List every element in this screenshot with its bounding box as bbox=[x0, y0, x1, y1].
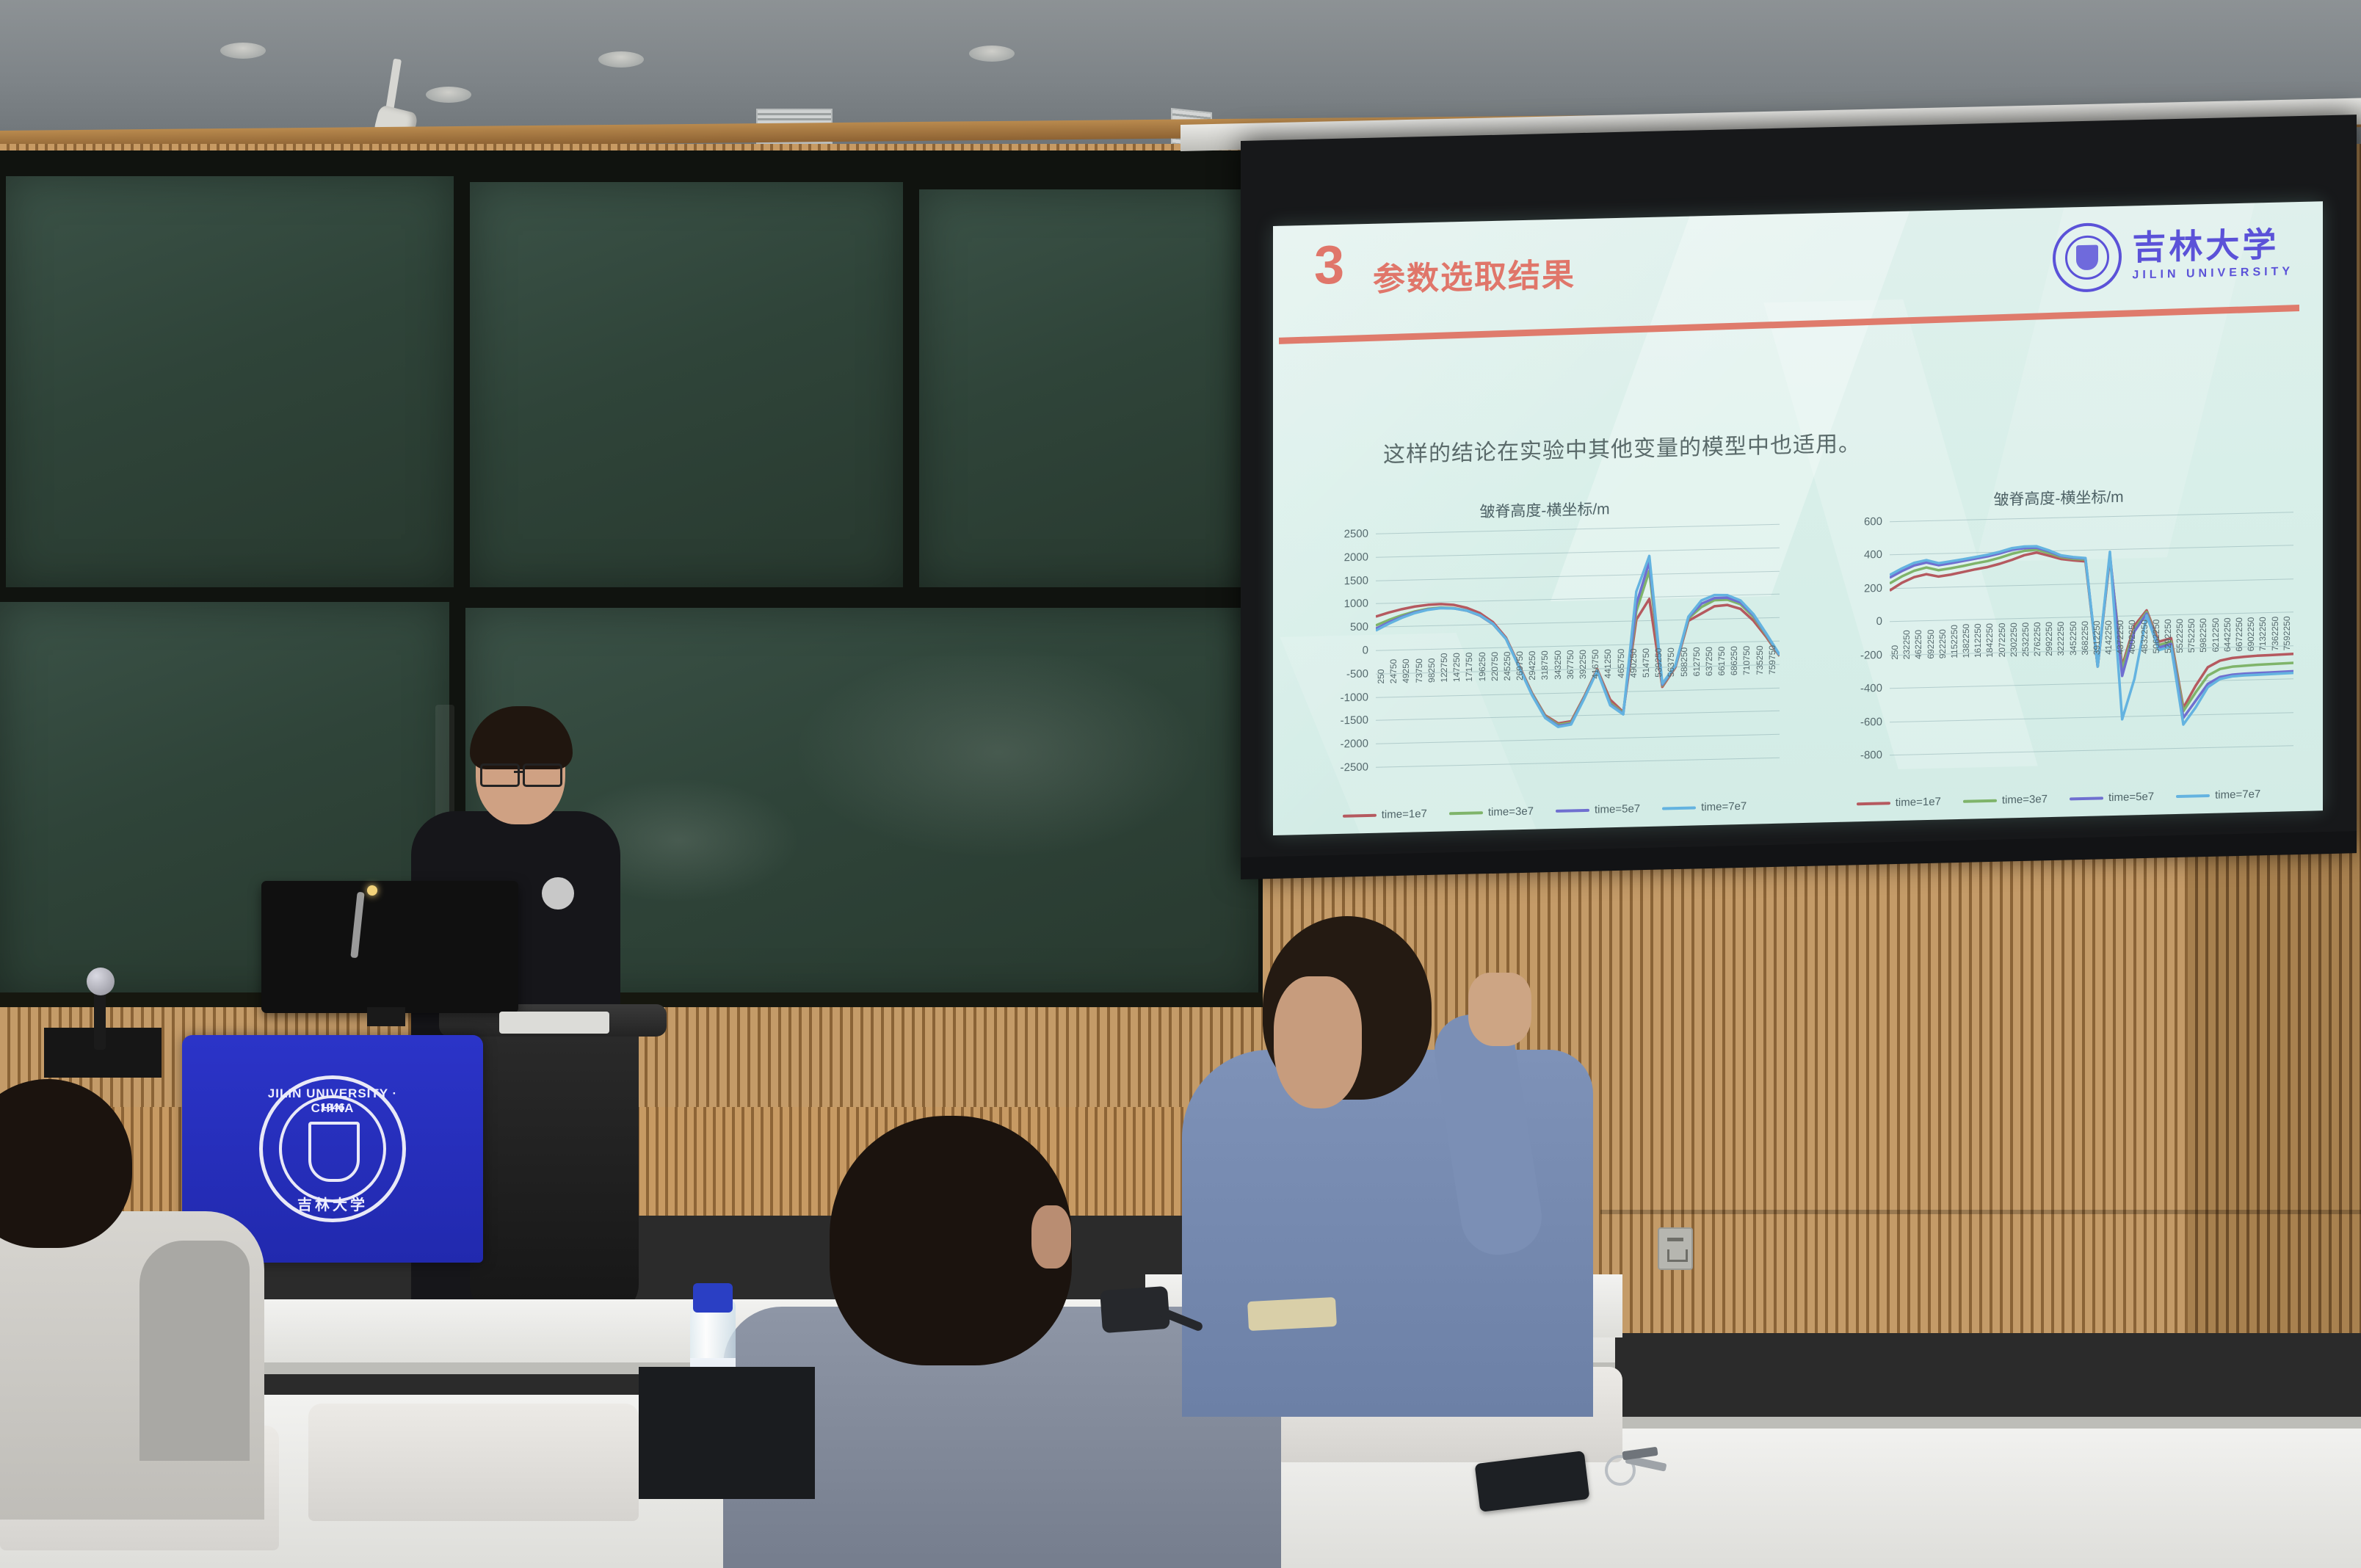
chart-legend-label: time=5e7 bbox=[2108, 791, 2154, 804]
chart-legend-item: time=3e7 bbox=[1449, 805, 1534, 820]
power-outlet[interactable] bbox=[1658, 1227, 1693, 1270]
chart-x-tick-label: 5292250 bbox=[2163, 619, 2175, 653]
presenter-glasses bbox=[523, 763, 562, 787]
chart-x-tick-label: 416750 bbox=[1590, 649, 1603, 678]
chart-x-tick-label: 2072250 bbox=[1997, 623, 2009, 658]
chart-x-tick-label: 612750 bbox=[1691, 647, 1704, 676]
chart-x-tick-label: 539250 bbox=[1653, 647, 1666, 677]
chart-x-tick-label: 2762250 bbox=[2032, 623, 2044, 657]
chart-x-tick-label: 73750 bbox=[1414, 653, 1426, 683]
chart-x-tick-label: 661750 bbox=[1716, 646, 1729, 675]
lecture-room-photo: 3 参数选取结果 这样的结论在实验中其他变量的模型中也适用。 吉林大学 JILI… bbox=[0, 0, 2361, 1568]
chart-x-tick-label: 245250 bbox=[1502, 651, 1515, 680]
chart-legend-item: time=7e7 bbox=[1662, 800, 1747, 815]
presenter-glasses bbox=[480, 763, 520, 787]
chart-y-tick-label: -2000 bbox=[1341, 738, 1368, 751]
seal-cn-text: 吉林大学 bbox=[263, 1193, 402, 1214]
chart-legend-swatch bbox=[2070, 796, 2103, 800]
chart-x-tick-label: 3452250 bbox=[2068, 621, 2080, 656]
downlight-icon bbox=[220, 43, 266, 59]
chart-plot-area: 25002000150010005000-500-1000-1500-2000-… bbox=[1376, 524, 1780, 767]
seal-shield-icon bbox=[308, 1122, 360, 1182]
audience-person-face bbox=[1274, 976, 1362, 1108]
chart-legend-swatch bbox=[2176, 794, 2210, 797]
chart-x-tick-label: 4142250 bbox=[2103, 620, 2115, 655]
chart-x-tick-label: 441250 bbox=[1603, 649, 1615, 678]
chart-x-tick-label: 710750 bbox=[1741, 646, 1754, 675]
chart-y-tick-label: 0 bbox=[1363, 644, 1368, 656]
chart-y-tick-label: -800 bbox=[1860, 749, 1882, 762]
chart-x-tick-label: 1842250 bbox=[1984, 623, 1996, 658]
chart-x-tick-label: 6442250 bbox=[2222, 617, 2234, 652]
chart-y-tick-label: 600 bbox=[1864, 515, 1882, 529]
podium-body bbox=[470, 1020, 639, 1314]
chart-x-tick-label: 392250 bbox=[1578, 650, 1590, 679]
chart-y-tick-label: -400 bbox=[1860, 682, 1882, 695]
chart-x-tick-label: 232250 bbox=[1901, 625, 1913, 660]
chart-legend-swatch bbox=[1556, 808, 1589, 812]
university-seal-icon bbox=[2053, 222, 2122, 293]
chart-legend-item: time=5e7 bbox=[1556, 802, 1640, 817]
seal-year: 1946 bbox=[263, 1101, 402, 1114]
chart-y-tick-label: 200 bbox=[1864, 582, 1882, 595]
chart-series-line bbox=[1376, 553, 1780, 731]
chart-x-tick-label: 4372250 bbox=[2115, 620, 2127, 655]
university-name-cn: 吉林大学 bbox=[2132, 227, 2293, 264]
audience-person-hand bbox=[1468, 973, 1531, 1046]
presentation-slide: 3 参数选取结果 这样的结论在实验中其他变量的模型中也适用。 吉林大学 JILI… bbox=[1273, 201, 2323, 835]
monitor-stand bbox=[367, 1007, 405, 1026]
chart-legend-swatch bbox=[1343, 813, 1377, 817]
chart-x-tick-label: 250 bbox=[1890, 625, 1901, 660]
chart-legend-label: time=1e7 bbox=[1382, 807, 1427, 821]
chart-x-tick-label: 5062250 bbox=[2151, 620, 2163, 654]
chart-legend: time=1e7time=3e7time=5e7time=7e7 bbox=[1288, 799, 1802, 823]
chart-x-tick-label: 686250 bbox=[1729, 646, 1741, 675]
chart-left: 皱脊高度-横坐标/m 25002000150010005000-500-1000… bbox=[1288, 493, 1802, 820]
chart-x-tick-label: 6672250 bbox=[2234, 617, 2246, 652]
downlight-icon bbox=[969, 46, 1015, 62]
chart-x-tick-label: 759750 bbox=[1767, 645, 1780, 675]
chart-legend-label: time=1e7 bbox=[1896, 796, 1941, 809]
chair[interactable] bbox=[308, 1404, 639, 1521]
chart-series-line bbox=[1376, 559, 1780, 730]
chart-x-tick-label: 5982250 bbox=[2198, 618, 2210, 653]
chart-y-tick-label: 1500 bbox=[1344, 574, 1368, 587]
chart-x-tick-label: 147250 bbox=[1451, 653, 1464, 682]
chart-y-tick-label: 500 bbox=[1350, 621, 1368, 634]
chart-legend-swatch bbox=[1857, 802, 1890, 805]
chart-legend: time=1e7time=3e7time=5e7time=7e7 bbox=[1802, 787, 2315, 811]
audience-person-ear bbox=[1031, 1205, 1071, 1268]
chart-x-tick-label: 269750 bbox=[1515, 651, 1527, 680]
blackboard-panel bbox=[919, 189, 1258, 587]
chart-x-tick-label: 7592250 bbox=[2282, 617, 2293, 651]
chart-x-tick-label: 367750 bbox=[1565, 650, 1578, 679]
chart-series-group bbox=[1376, 524, 1780, 767]
downlight-icon bbox=[426, 87, 471, 103]
chart-x-tick-label: 1152250 bbox=[1949, 624, 1961, 658]
chalk-smudge bbox=[793, 646, 1204, 859]
chart-x-tick-label: 343250 bbox=[1553, 650, 1565, 680]
chart-x-tick-label: 7362250 bbox=[2270, 617, 2282, 651]
downlight-icon bbox=[598, 51, 644, 68]
chart-x-tick-label: 2532250 bbox=[2020, 623, 2032, 657]
audience-person-arm bbox=[139, 1241, 250, 1461]
chart-x-tick-label: 1612250 bbox=[1973, 623, 1984, 658]
chart-legend-item: time=1e7 bbox=[1343, 807, 1427, 822]
podium-seal-icon: JILIN UNIVERSITY · CHINA 1946 吉林大学 bbox=[259, 1075, 406, 1222]
presenter-shirt-graphic bbox=[542, 877, 574, 910]
chart-x-tick-label: 462250 bbox=[1913, 625, 1925, 659]
chart-y-tick-label: 1000 bbox=[1344, 598, 1368, 611]
chart-y-tick-label: -200 bbox=[1860, 649, 1882, 662]
chart-x-tick-label: 4602250 bbox=[2127, 620, 2139, 654]
chart-legend-label: time=3e7 bbox=[2002, 793, 2048, 806]
chart-x-tick-label: 692250 bbox=[1926, 625, 1937, 659]
chart-y-tick-label: -1500 bbox=[1341, 714, 1368, 727]
lamp-light-icon bbox=[367, 885, 377, 896]
chart-x-tick-label: 3222250 bbox=[2056, 622, 2067, 656]
chart-x-tick-label: 6902250 bbox=[2246, 617, 2257, 652]
slide-section-number: 3 bbox=[1314, 241, 1344, 291]
chart-x-tick-label: 2302250 bbox=[2009, 623, 2020, 657]
chart-x-tick-label: 490250 bbox=[1628, 648, 1641, 678]
chart-x-tick-label: 24750 bbox=[1388, 654, 1401, 683]
chart-legend-label: time=7e7 bbox=[1701, 800, 1747, 813]
chart-y-tick-label: -1000 bbox=[1341, 691, 1368, 704]
chart-x-tick-label: 196250 bbox=[1477, 652, 1490, 681]
chart-x-tick-label: 122750 bbox=[1439, 653, 1451, 682]
chart-x-tick-label: 98250 bbox=[1426, 653, 1439, 683]
chart-y-tick-label: 2000 bbox=[1344, 551, 1368, 564]
chart-x-tick-label: 514750 bbox=[1641, 648, 1653, 678]
podium-monitor[interactable] bbox=[261, 881, 518, 1013]
chart-x-tick-label: 7132250 bbox=[2257, 617, 2269, 651]
chart-y-tick-label: -2500 bbox=[1341, 761, 1368, 774]
chart-legend-item: time=3e7 bbox=[1963, 793, 2048, 807]
chart-x-tick-label: 220750 bbox=[1490, 652, 1502, 681]
chart-x-tick-label: 3682250 bbox=[2080, 621, 2092, 656]
chart-legend-item: time=7e7 bbox=[2176, 788, 2260, 802]
chart-x-tick-label: 637250 bbox=[1704, 647, 1716, 676]
chart-x-tick-label: 588250 bbox=[1679, 647, 1691, 677]
chart-y-tick-label: 400 bbox=[1864, 548, 1882, 562]
university-name-en: JILIN UNIVERSITY bbox=[2132, 265, 2293, 282]
chart-right: 皱脊高度-横坐标/m 6004002000-200-400-600-800 25… bbox=[1802, 481, 2315, 808]
chart-x-tick-label: 1382250 bbox=[1961, 624, 1973, 658]
chart-x-tick-label: 5752250 bbox=[2186, 619, 2198, 653]
chart-x-tick-label: 563750 bbox=[1666, 647, 1678, 677]
podium-papers bbox=[499, 1012, 609, 1034]
charts-container: 皱脊高度-横坐标/m 25002000150010005000-500-1000… bbox=[1288, 481, 2315, 821]
slide-title: 参数选取结果 bbox=[1373, 248, 1575, 300]
chart-x-tick-label: 3912250 bbox=[2092, 621, 2103, 656]
chart-legend-item: time=1e7 bbox=[1857, 796, 1941, 810]
paper-stack[interactable] bbox=[1247, 1297, 1337, 1331]
chart-x-tick-label: 922250 bbox=[1937, 625, 1949, 659]
blackboard-panel bbox=[470, 182, 903, 587]
chart-x-tick-label: 250 bbox=[1376, 654, 1388, 683]
water-bottle-cap[interactable] bbox=[693, 1283, 733, 1313]
chart-legend-swatch bbox=[1963, 799, 1997, 802]
chart-x-tick-label: 5522250 bbox=[2175, 619, 2186, 653]
chart-y-tick-label: -600 bbox=[1860, 716, 1882, 729]
chart-title: 皱脊高度-横坐标/m bbox=[1288, 493, 1802, 526]
chart-x-tick-label: 2992250 bbox=[2044, 622, 2056, 656]
chart-x-tick-label: 6212250 bbox=[2211, 618, 2222, 653]
chart-legend-label: time=5e7 bbox=[1595, 802, 1640, 816]
desk-shadow bbox=[639, 1367, 815, 1499]
keys[interactable] bbox=[1600, 1446, 1671, 1484]
chart-y-tick-label: 0 bbox=[1876, 615, 1882, 628]
chart-y-tick-label: 2500 bbox=[1344, 527, 1368, 540]
presenter-glasses-bridge bbox=[514, 771, 524, 773]
blackboard-panel bbox=[6, 176, 454, 587]
chart-legend-swatch bbox=[1662, 806, 1696, 810]
wall-seam bbox=[1600, 1210, 2361, 1214]
jilin-university-logo: 吉林大学 JILIN UNIVERSITY bbox=[2053, 218, 2293, 293]
chart-x-tick-label: 294250 bbox=[1527, 650, 1539, 680]
chart-y-tick-label: -500 bbox=[1346, 667, 1368, 680]
chart-legend-label: time=3e7 bbox=[1488, 805, 1534, 819]
chart-legend-item: time=5e7 bbox=[2070, 791, 2154, 805]
chart-x-tick-label: 318750 bbox=[1539, 650, 1552, 680]
chart-x-tick-label: 171750 bbox=[1464, 652, 1476, 681]
chart-legend-label: time=7e7 bbox=[2215, 788, 2260, 801]
chart-x-tick-label: 4832250 bbox=[2139, 620, 2151, 654]
microphone-head-icon bbox=[87, 968, 115, 995]
chart-x-tick-label: 49250 bbox=[1401, 653, 1413, 683]
chart-x-tick-label: 735250 bbox=[1755, 645, 1767, 675]
chart-legend-swatch bbox=[1449, 811, 1483, 815]
chart-x-tick-label: 465750 bbox=[1616, 649, 1628, 678]
